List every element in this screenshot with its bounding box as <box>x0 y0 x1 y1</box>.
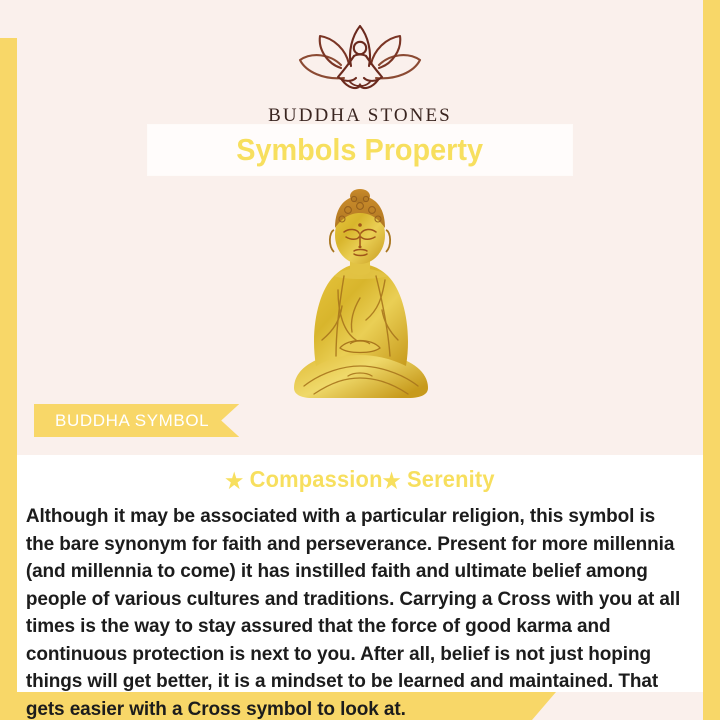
star-icon-2: ★ <box>383 470 401 493</box>
star-icon-1: ★ <box>225 470 243 493</box>
content-panel: ★ Compassion★ Serenity Although it may b… <box>17 455 703 692</box>
seated-buddha-illustration <box>278 180 443 410</box>
description-text: Although it may be associated with a par… <box>17 494 693 720</box>
header-section: BUDDHA STONES Symbols Property <box>17 0 703 455</box>
hero-image <box>17 180 703 410</box>
attribute-compassion: Compassion <box>250 466 383 492</box>
brand-logo: BUDDHA STONES <box>17 24 703 127</box>
page-title: Symbols Property <box>237 132 484 168</box>
ribbon-label: BUDDHA SYMBOL <box>55 411 209 431</box>
attributes-heading: ★ Compassion★ Serenity <box>34 455 686 494</box>
lotus-meditation-icon <box>294 24 426 100</box>
decor-left-strip <box>0 0 17 720</box>
buddha-symbol-ribbon: BUDDHA SYMBOL <box>34 404 239 437</box>
decor-right-strip <box>703 0 720 720</box>
title-banner: Symbols Property <box>148 125 572 175</box>
decor-left-notch <box>0 0 17 38</box>
attribute-serenity: Serenity <box>407 466 495 492</box>
brand-name: BUDDHA STONES <box>268 105 452 127</box>
poster-canvas: BUDDHA STONES Symbols Property <box>0 0 720 720</box>
